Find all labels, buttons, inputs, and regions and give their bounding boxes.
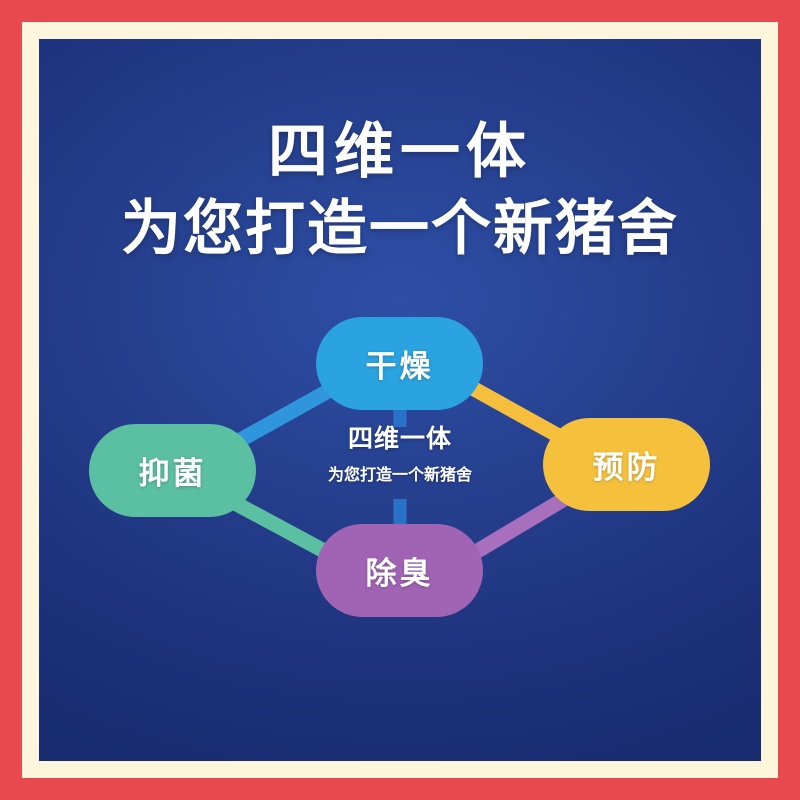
- poster-stage: 四维一体 为您打造一个新猪舍 干燥 抑菌: [39, 39, 761, 761]
- node-dry-label: 干燥: [366, 341, 434, 386]
- four-in-one-diagram: 干燥 抑菌 预防 除臭 四维一体 为您打造一个新猪舍: [39, 297, 761, 697]
- node-prevention-label: 预防: [593, 442, 661, 487]
- diagram-center-label: 四维一体 为您打造一个新猪舍: [320, 419, 480, 485]
- center-subtitle: 为您打造一个新猪舍: [320, 461, 480, 485]
- page-title: 四维一体 为您打造一个新猪舍: [39, 117, 761, 265]
- node-deodorize-label: 除臭: [366, 548, 434, 593]
- node-prevention[interactable]: 预防: [543, 418, 710, 511]
- poster-root: 四维一体 为您打造一个新猪舍 干燥 抑菌: [0, 0, 800, 800]
- node-antibacterial-label: 抑菌: [139, 448, 207, 493]
- headline-line-1: 四维一体: [39, 117, 761, 188]
- node-deodorize[interactable]: 除臭: [316, 524, 483, 617]
- node-antibacterial[interactable]: 抑菌: [89, 424, 256, 517]
- center-title: 四维一体: [320, 419, 480, 455]
- connector-top-right: [467, 385, 566, 440]
- headline-line-2: 为您打造一个新猪舍: [39, 194, 761, 265]
- node-dry[interactable]: 干燥: [316, 317, 483, 410]
- connector-bottom-right: [464, 498, 566, 559]
